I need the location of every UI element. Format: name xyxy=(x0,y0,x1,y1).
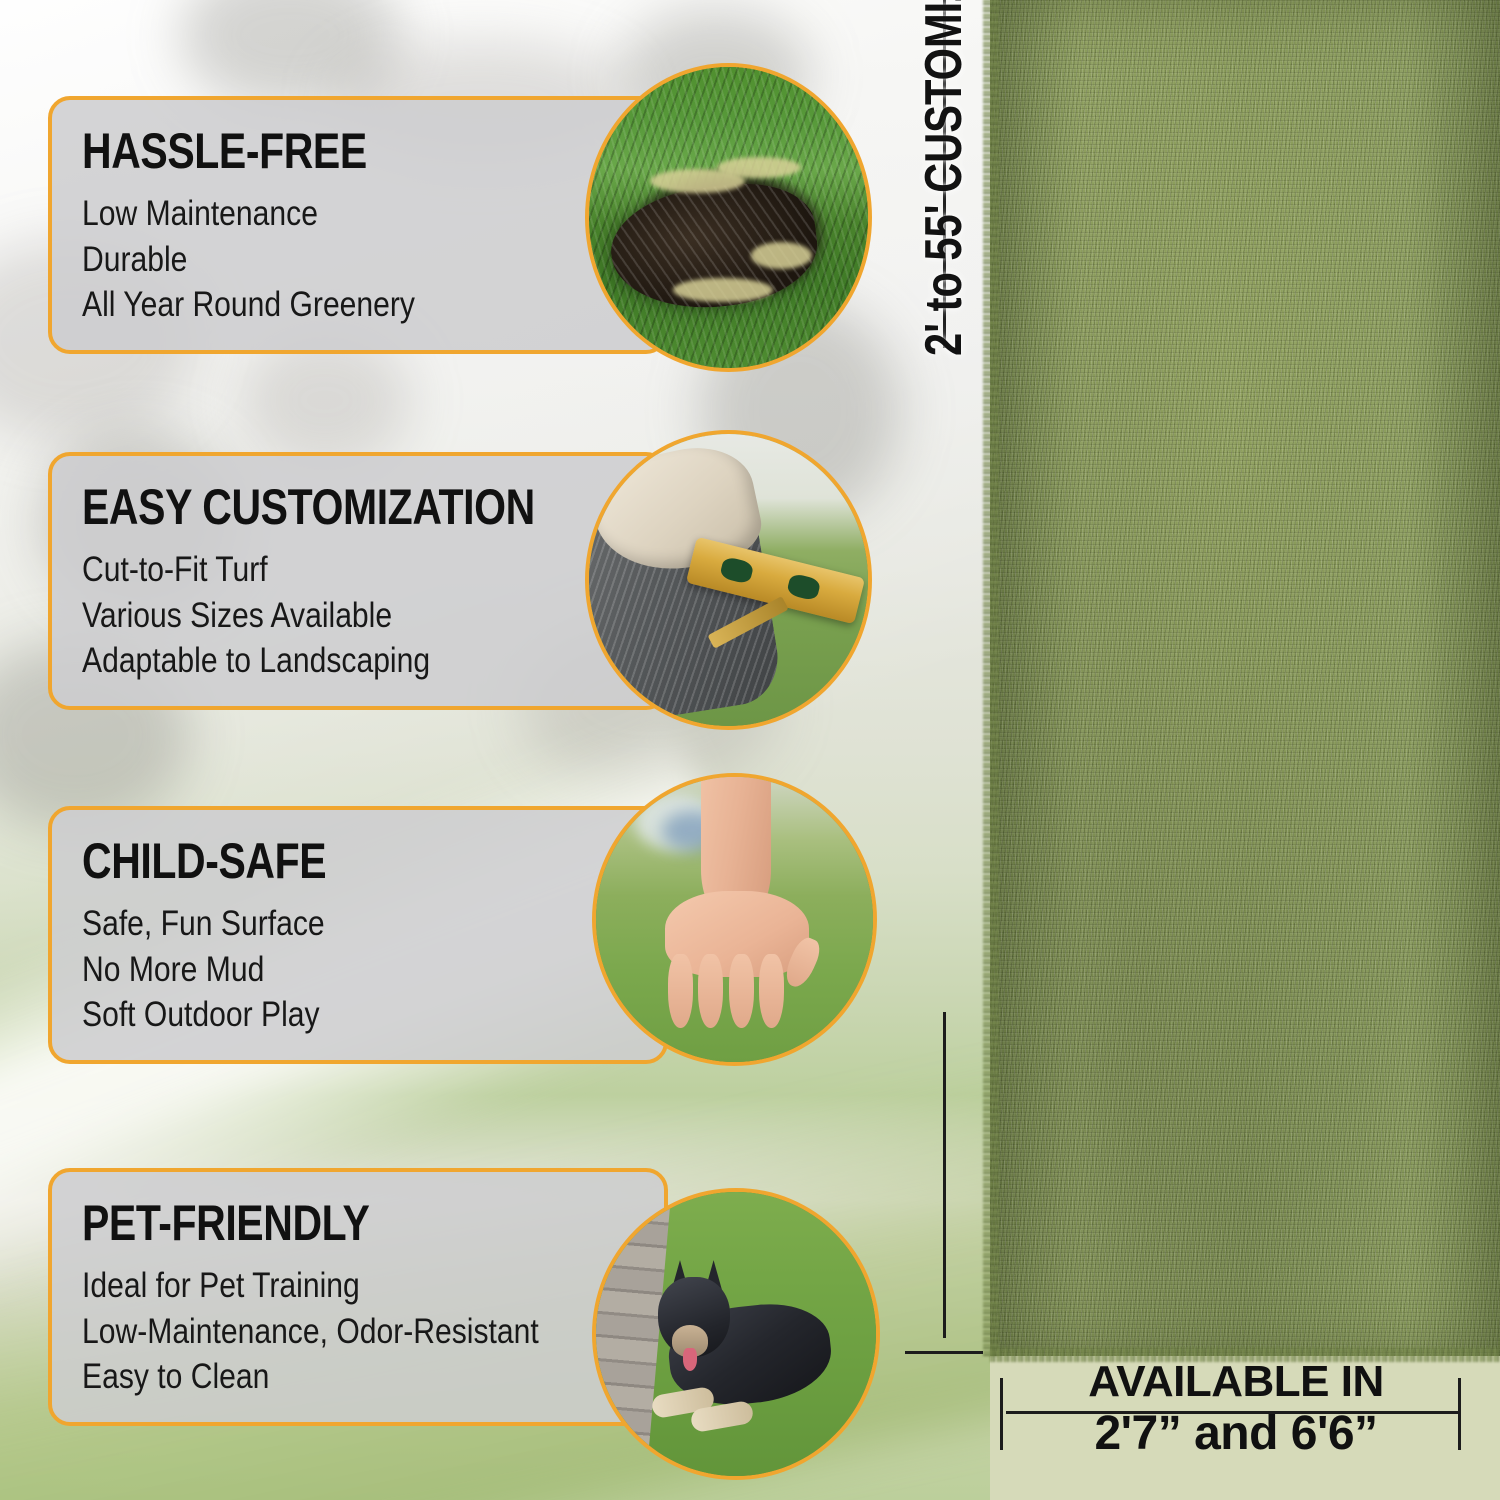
width-label: AVAILABLE IN 2'7” and 6'6” xyxy=(1006,1360,1466,1458)
width-label-values: 2'7” and 6'6” xyxy=(1006,1410,1466,1458)
photo-image xyxy=(596,777,873,1062)
turf-roll-backing-photo[interactable] xyxy=(585,63,872,372)
feature-line: No More Mud xyxy=(82,947,557,993)
turf-roll-panel xyxy=(990,0,1500,1500)
length-label: 2' to 55' CUSTOMIZABLE xyxy=(896,0,992,356)
feature-line: All Year Round Greenery xyxy=(82,282,557,328)
dog-tongue xyxy=(683,1348,697,1371)
feature-line: Ideal for Pet Training xyxy=(82,1263,557,1309)
feature-title: EASY CUSTOMIZATION xyxy=(82,482,535,533)
child-finger xyxy=(759,954,784,1028)
length-measure-line-bottom xyxy=(943,1012,946,1338)
feature-card-hassle-free[interactable]: HASSLE-FREE Low Maintenance Durable All … xyxy=(48,96,668,354)
photo-image xyxy=(596,1192,876,1476)
turf-installation-photo[interactable] xyxy=(585,430,872,730)
turf-roll-image xyxy=(990,0,1500,1356)
feature-card-child-safe[interactable]: CHILD-SAFE Safe, Fun Surface No More Mud… xyxy=(48,806,668,1064)
feature-line: Cut-to-Fit Turf xyxy=(82,547,557,593)
child-finger xyxy=(698,954,723,1028)
feature-title: HASSLE-FREE xyxy=(82,126,535,177)
width-label-heading: AVAILABLE IN xyxy=(1006,1360,1466,1404)
turf-tuft xyxy=(751,242,812,269)
feature-line: Adaptable to Landscaping xyxy=(82,638,557,684)
feature-title: CHILD-SAFE xyxy=(82,836,535,887)
dog-on-turf-photo[interactable] xyxy=(592,1188,880,1480)
feature-line: Easy to Clean xyxy=(82,1354,557,1400)
width-measure-tick-left xyxy=(1000,1378,1003,1450)
feature-card-easy-customization[interactable]: EASY CUSTOMIZATION Cut-to-Fit Turf Vario… xyxy=(48,452,668,710)
turf-tuft xyxy=(717,157,801,178)
child-finger xyxy=(729,954,754,1028)
photo-image xyxy=(589,434,868,726)
feature-line: Low Maintenance xyxy=(82,191,557,237)
length-measure-end-tick xyxy=(905,1351,983,1354)
feature-line: Low-Maintenance, Odor-Resistant xyxy=(82,1309,557,1355)
length-label-text: 2' to 55' CUSTOMIZABLE xyxy=(915,0,973,356)
turf-tuft xyxy=(673,278,773,302)
feature-line: Safe, Fun Surface xyxy=(82,901,557,947)
child-finger xyxy=(668,954,693,1028)
feature-card-pet-friendly[interactable]: PET-FRIENDLY Ideal for Pet Training Low-… xyxy=(48,1168,668,1426)
feature-line: Various Sizes Available xyxy=(82,593,557,639)
feature-line: Durable xyxy=(82,237,557,283)
child-hand-on-turf-photo[interactable] xyxy=(592,773,877,1066)
paver-path xyxy=(592,1188,672,1480)
feature-title: PET-FRIENDLY xyxy=(82,1198,535,1249)
feature-line: Soft Outdoor Play xyxy=(82,992,557,1038)
photo-image xyxy=(589,67,868,368)
